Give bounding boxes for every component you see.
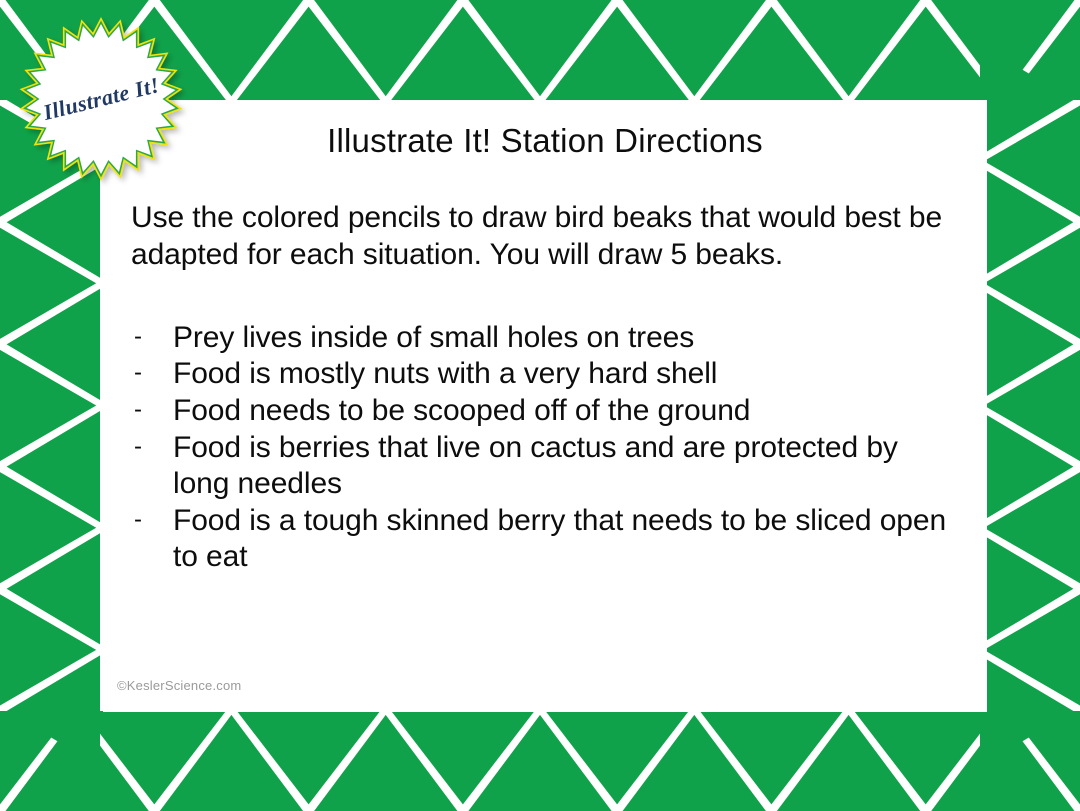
list-item: -Food is a tough skinned berry that need…: [131, 503, 971, 576]
list-item-label: Food is a tough skinned berry that needs…: [173, 503, 971, 576]
list-item: -Food is berries that live on cactus and…: [131, 430, 971, 503]
bullet-dash-marker: -: [131, 356, 173, 391]
list-item-label: Food needs to be scooped off of the grou…: [173, 393, 971, 430]
bullet-dash-marker: -: [131, 430, 173, 465]
list-item-label: Food is berries that live on cactus and …: [173, 430, 971, 503]
bullet-dash-marker: -: [131, 320, 173, 355]
list-item: -Prey lives inside of small holes on tre…: [131, 320, 971, 357]
content-panel: Illustrate It! Station Directions Use th…: [103, 100, 987, 712]
slide-canvas: Illustrate It! Station Directions Use th…: [0, 0, 1080, 811]
page-title: Illustrate It! Station Directions: [103, 122, 987, 160]
list-item: -Food needs to be scooped off of the gro…: [131, 393, 971, 430]
list-item-label: Food is mostly nuts with a very hard she…: [173, 356, 971, 393]
bullet-list: -Prey lives inside of small holes on tre…: [131, 320, 971, 576]
illustrate-it-badge: Illustrate It!: [8, 6, 194, 192]
list-item: -Food is mostly nuts with a very hard sh…: [131, 356, 971, 393]
starburst-icon: [8, 6, 194, 192]
body-block: Use the colored pencils to draw bird bea…: [131, 200, 971, 576]
intro-paragraph: Use the colored pencils to draw bird bea…: [131, 200, 951, 274]
list-item-label: Prey lives inside of small holes on tree…: [173, 320, 971, 357]
copyright-credit: ©KeslerScience.com: [117, 678, 241, 693]
bullet-dash-marker: -: [131, 503, 173, 538]
bullet-dash-marker: -: [131, 393, 173, 428]
